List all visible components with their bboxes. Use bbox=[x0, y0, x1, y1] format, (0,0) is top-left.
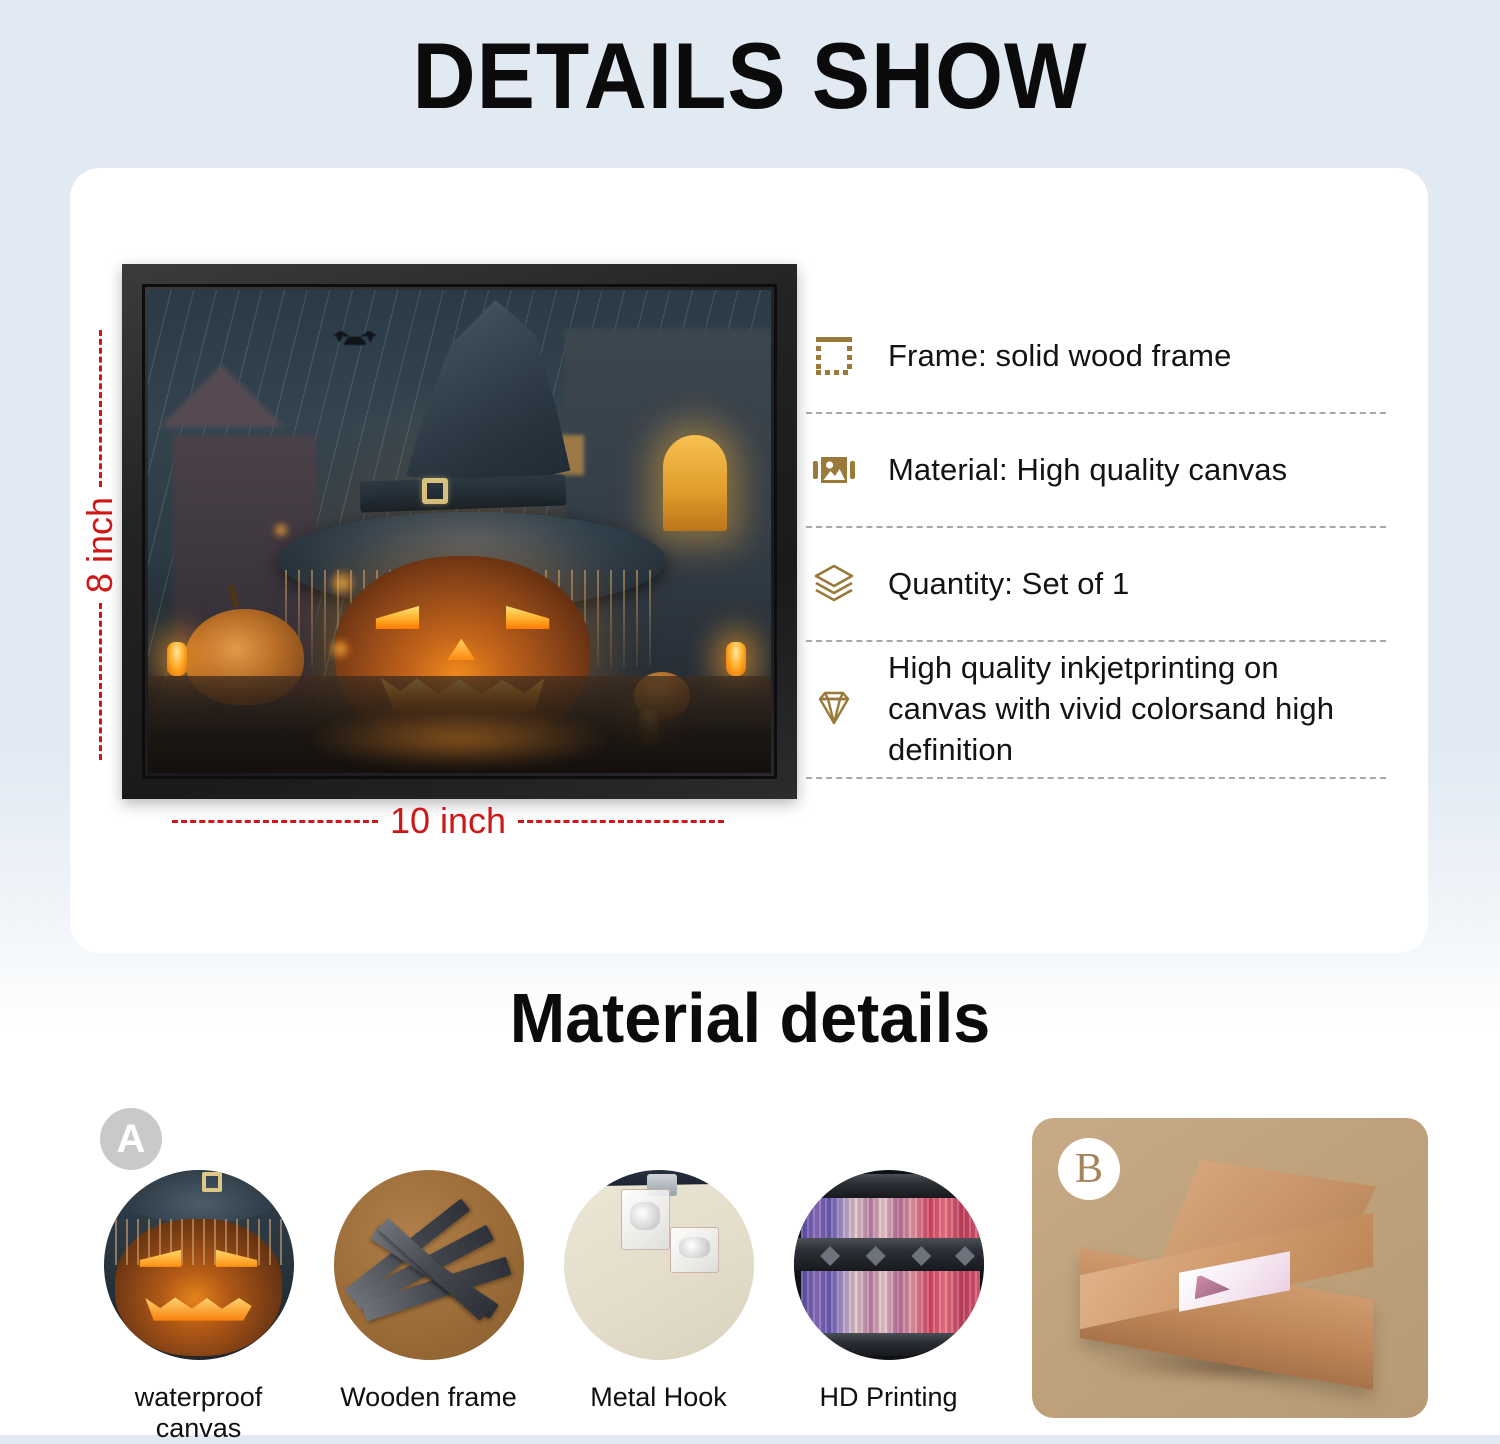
bokeh-light bbox=[273, 522, 289, 538]
thumbnail-image bbox=[794, 1170, 984, 1360]
feature-item-quantity: Quantity: Set of 1 bbox=[806, 528, 1386, 640]
thumbnail-image bbox=[564, 1170, 754, 1360]
bat-icon bbox=[335, 329, 375, 345]
thumbnail-hd-printing[interactable]: HD Printing bbox=[786, 1170, 991, 1444]
feature-item-material: Material: High quality canvas bbox=[806, 414, 1386, 526]
feature-item-frame: Frame: solid wood frame bbox=[806, 300, 1386, 412]
framed-artwork bbox=[122, 264, 797, 799]
pumpkin-eye-right bbox=[506, 606, 549, 629]
ground-glow bbox=[310, 710, 609, 768]
dimension-dash-line bbox=[518, 820, 724, 823]
page-title: DETAILS SHOW bbox=[53, 22, 1448, 130]
feature-label: Material: High quality canvas bbox=[888, 450, 1287, 491]
thumbnail-image bbox=[334, 1170, 524, 1360]
width-dimension-label: 10 inch bbox=[390, 800, 506, 842]
lit-window-icon bbox=[663, 435, 727, 531]
thumbnail-waterproof-canvas[interactable]: waterproof canvas bbox=[96, 1170, 301, 1444]
diamond-icon bbox=[806, 681, 862, 737]
artwork-image bbox=[148, 290, 771, 773]
feature-label: Frame: solid wood frame bbox=[888, 336, 1231, 377]
pumpkin-eye-left bbox=[376, 606, 419, 629]
candle-left-icon bbox=[167, 642, 187, 676]
thumbnail-label: Metal Hook bbox=[556, 1382, 761, 1413]
picture-icon bbox=[806, 442, 862, 498]
feature-list: Frame: solid wood frame Material: High q… bbox=[806, 300, 1386, 779]
frame-icon bbox=[806, 328, 862, 384]
thumbnail-metal-hook[interactable]: Metal Hook bbox=[556, 1170, 761, 1444]
badge-b: B bbox=[1058, 1138, 1120, 1200]
feature-label: Quantity: Set of 1 bbox=[888, 564, 1129, 605]
feature-item-printing: High quality inkjetprinting on canvas wi… bbox=[806, 642, 1386, 777]
thumbnail-row: waterproof canvas Wooden frame bbox=[96, 1170, 991, 1444]
pumpkin-nose bbox=[447, 639, 475, 660]
height-dimension: 8 inch bbox=[78, 330, 122, 760]
feature-separator bbox=[806, 777, 1386, 779]
section-title: Material details bbox=[38, 978, 1463, 1058]
material-section-a: A waterproof canvas bbox=[96, 1108, 996, 1428]
bokeh-light bbox=[329, 570, 355, 596]
height-dimension-label: 8 inch bbox=[79, 497, 121, 593]
witch-hat-buckle-icon bbox=[422, 478, 448, 504]
dimension-dash-line bbox=[99, 603, 102, 760]
thumbnail-wooden-frame[interactable]: Wooden frame bbox=[326, 1170, 531, 1444]
layers-icon bbox=[806, 556, 862, 612]
feature-label: High quality inkjetprinting on canvas wi… bbox=[888, 648, 1386, 771]
thumbnail-label: Wooden frame bbox=[326, 1382, 531, 1413]
badge-a: A bbox=[100, 1108, 162, 1170]
candle-right-icon bbox=[726, 642, 746, 676]
width-dimension: 10 inch bbox=[172, 798, 724, 844]
thumbnail-image bbox=[104, 1170, 294, 1360]
thumbnail-label: HD Printing bbox=[786, 1382, 991, 1413]
dimension-dash-line bbox=[172, 820, 378, 823]
bokeh-light bbox=[329, 638, 351, 660]
packaging-section-b: B bbox=[1032, 1118, 1428, 1418]
dimension-dash-line bbox=[99, 330, 102, 487]
